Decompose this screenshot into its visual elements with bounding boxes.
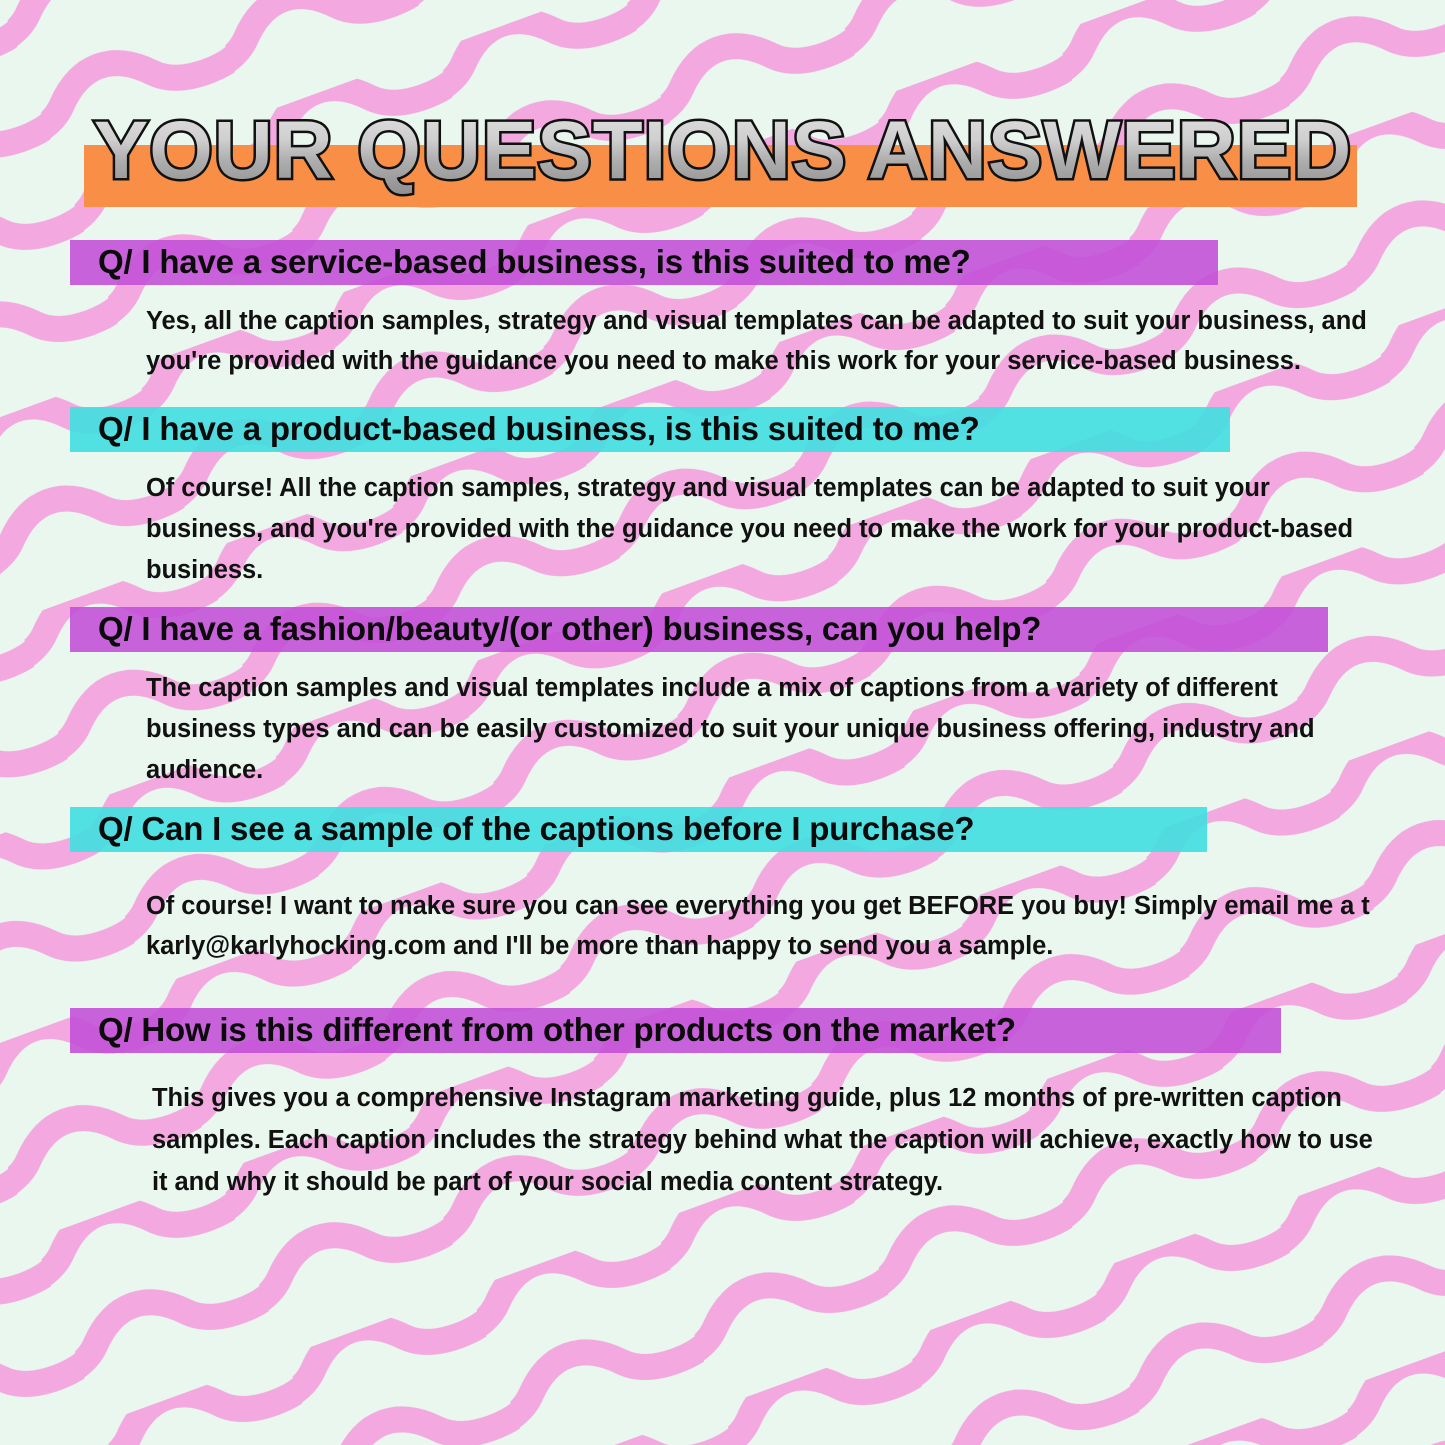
faq-question-text: Q/ Can I see a sample of the captions be… [98, 803, 974, 856]
faq-question-row: Q/ I have a fashion/beauty/(or other) bu… [70, 603, 1375, 656]
faq-item: Q/ I have a fashion/beauty/(or other) bu… [0, 603, 1445, 791]
page-title: YOUR QUESTIONS ANSWERED [0, 103, 1445, 199]
spacer [0, 591, 1445, 603]
faq-item: Q/ I have a service-based business, is t… [0, 236, 1445, 381]
faq-item: Q/ I have a product-based business, is t… [0, 403, 1445, 591]
faq-answer-text: This gives you a comprehensive Instagram… [152, 1077, 1375, 1203]
faq-question-text: Q/ I have a fashion/beauty/(or other) bu… [98, 603, 1041, 656]
faq-list: Q/ I have a service-based business, is t… [0, 236, 1445, 1203]
faq-question-text: Q/ How is this different from other prod… [98, 1004, 1016, 1057]
faq-question-row: Q/ I have a service-based business, is t… [70, 236, 1375, 289]
spacer [0, 966, 1445, 1004]
faq-page: YOUR QUESTIONS ANSWERED Q/ I have a serv… [0, 0, 1445, 1445]
faq-answer-text: The caption samples and visual templates… [146, 668, 1375, 791]
faq-question-text: Q/ I have a product-based business, is t… [98, 403, 980, 456]
faq-item: Q/ Can I see a sample of the captions be… [0, 803, 1445, 966]
faq-question-text: Q/ I have a service-based business, is t… [98, 236, 971, 289]
spacer [0, 381, 1445, 403]
faq-answer-text: Of course! I want to make sure you can s… [146, 886, 1375, 966]
faq-answer-text: Of course! All the caption samples, stra… [146, 468, 1375, 591]
faq-question-row: Q/ Can I see a sample of the captions be… [70, 803, 1375, 856]
page-header: YOUR QUESTIONS ANSWERED [0, 0, 1445, 225]
page-title-text: YOUR QUESTIONS ANSWERED [93, 105, 1352, 196]
faq-answer-text: Yes, all the caption samples, strategy a… [146, 301, 1375, 381]
faq-question-row: Q/ I have a product-based business, is t… [70, 403, 1375, 456]
faq-item: Q/ How is this different from other prod… [0, 1004, 1445, 1203]
faq-question-row: Q/ How is this different from other prod… [70, 1004, 1375, 1057]
spacer [0, 791, 1445, 803]
